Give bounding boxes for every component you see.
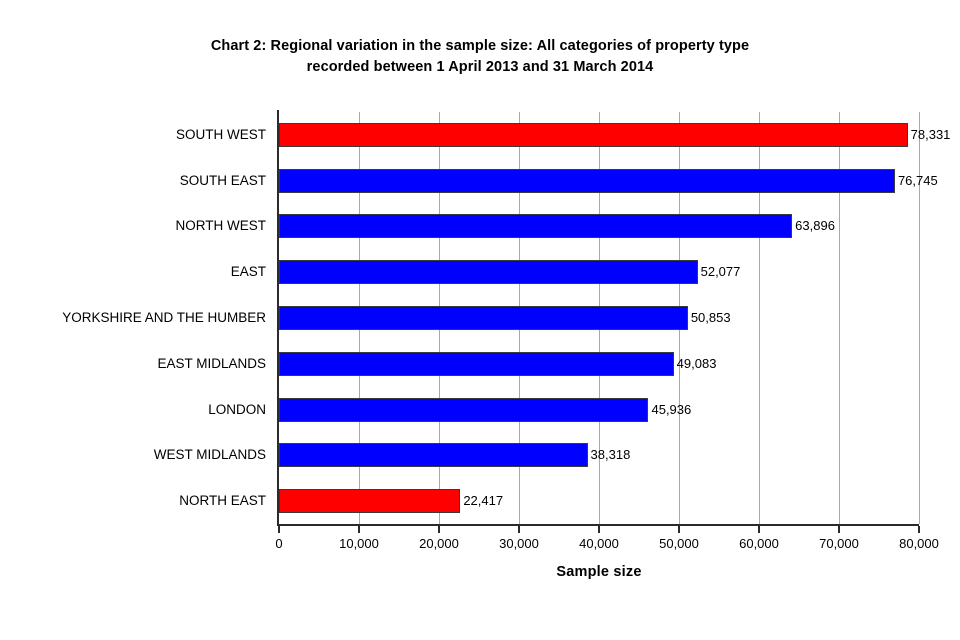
x-tick-label: 30,000 bbox=[479, 536, 559, 551]
x-tick-mark-70000 bbox=[838, 526, 840, 533]
x-tick-label: 50,000 bbox=[639, 536, 719, 551]
category-label: SOUTH EAST bbox=[180, 174, 266, 188]
x-tick-label: 10,000 bbox=[319, 536, 399, 551]
bar-value-label: 38,318 bbox=[591, 448, 631, 462]
bar[interactable] bbox=[279, 123, 908, 147]
x-tick-mark-0 bbox=[278, 526, 280, 533]
x-tick-label: 60,000 bbox=[719, 536, 799, 551]
x-tick-mark-30000 bbox=[518, 526, 520, 533]
x-tick-mark-80000 bbox=[918, 526, 920, 533]
bar-value-label: 52,077 bbox=[701, 265, 741, 279]
x-tick-label: 0 bbox=[239, 536, 319, 551]
bar[interactable] bbox=[279, 443, 588, 467]
bar[interactable] bbox=[279, 260, 698, 284]
x-tick-mark-20000 bbox=[438, 526, 440, 533]
chart-title: Chart 2: Regional variation in the sampl… bbox=[0, 36, 960, 78]
x-tick-mark-40000 bbox=[598, 526, 600, 533]
bar-value-label: 78,331 bbox=[911, 128, 951, 142]
bar[interactable] bbox=[279, 169, 895, 193]
x-axis-title: Sample size bbox=[279, 564, 919, 580]
x-tick-mark-10000 bbox=[358, 526, 360, 533]
x-tick-mark-60000 bbox=[758, 526, 760, 533]
bar-value-label: 45,936 bbox=[651, 403, 691, 417]
chart-container: Chart 2: Regional variation in the sampl… bbox=[0, 0, 960, 640]
x-tick-label: 80,000 bbox=[879, 536, 959, 551]
bar[interactable] bbox=[279, 352, 674, 376]
x-tick-label: 20,000 bbox=[399, 536, 479, 551]
x-tick-mark-50000 bbox=[678, 526, 680, 533]
category-label: EAST MIDLANDS bbox=[157, 357, 266, 371]
bar-value-label: 50,853 bbox=[691, 311, 731, 325]
category-label: LONDON bbox=[208, 403, 266, 417]
bar-value-label: 76,745 bbox=[898, 174, 938, 188]
category-label: YORKSHIRE AND THE HUMBER bbox=[62, 311, 266, 325]
bar-value-label: 49,083 bbox=[677, 357, 717, 371]
bar[interactable] bbox=[279, 214, 792, 238]
category-label: EAST bbox=[231, 265, 266, 279]
bar-value-label: 63,896 bbox=[795, 219, 835, 233]
bar[interactable] bbox=[279, 398, 648, 422]
category-label: SOUTH WEST bbox=[176, 128, 266, 142]
category-label: NORTH EAST bbox=[179, 494, 266, 508]
category-label: NORTH WEST bbox=[176, 219, 267, 233]
x-tick-label: 40,000 bbox=[559, 536, 639, 551]
category-label: WEST MIDLANDS bbox=[154, 448, 266, 462]
bar[interactable] bbox=[279, 489, 460, 513]
bar[interactable] bbox=[279, 306, 688, 330]
x-tick-label: 70,000 bbox=[799, 536, 879, 551]
bar-value-label: 22,417 bbox=[463, 494, 503, 508]
chart-title-line-2: recorded between 1 April 2013 and 31 Mar… bbox=[0, 57, 960, 78]
chart-title-line-1: Chart 2: Regional variation in the sampl… bbox=[211, 38, 749, 54]
